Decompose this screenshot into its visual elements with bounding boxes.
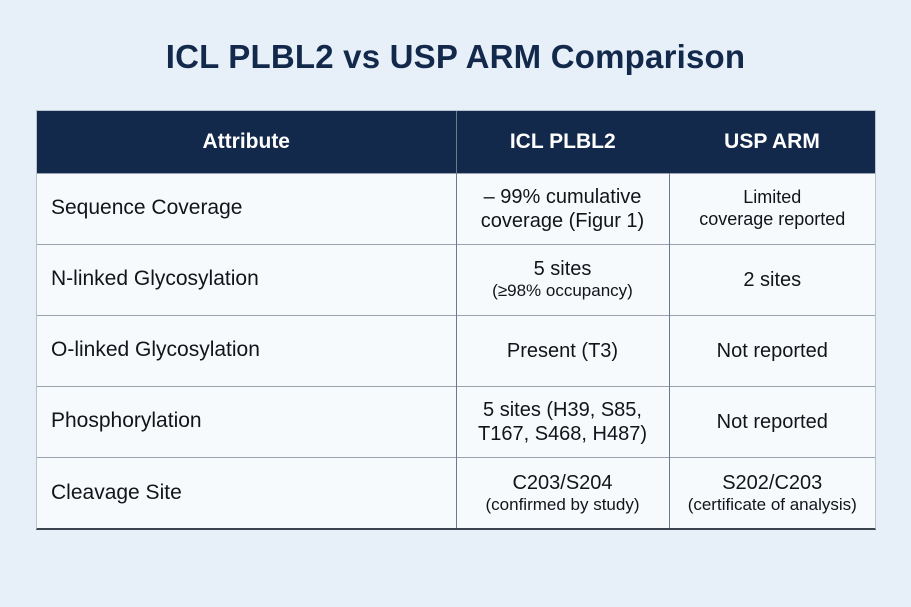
table-row: Phosphorylation 5 sites (H39, S85, T167,… [37,386,875,457]
slide-root: ICL PLBL2 vs USP ARM Comparison Attribut… [0,0,911,607]
page-title: ICL PLBL2 vs USP ARM Comparison [0,38,911,76]
cell-icl-plbl2: 5 sites (H39, S85, T167, S468, H487) [456,386,669,457]
cell-line-primary: Not reported [676,339,870,363]
cell-usp-arm: 2 sites [669,244,875,315]
cell-line-primary: 2 sites [676,268,870,292]
table-row: N-linked Glycosylation 5 sites (≥98% occ… [37,244,875,315]
table-row: Cleavage Site C203/S204 (confirmed by st… [37,457,875,528]
cell-attribute: Sequence Coverage [37,173,456,244]
table-header: Attribute ICL PLBL2 USP ARM [37,111,875,173]
cell-attribute: Cleavage Site [37,457,456,528]
comparison-table: Attribute ICL PLBL2 USP ARM Sequence Cov… [37,111,875,528]
cell-line-primary: – 99% cumulative [463,185,663,209]
cell-line-primary: Present (T3) [463,339,663,363]
cell-attribute: N-linked Glycosylation [37,244,456,315]
comparison-table-container: Attribute ICL PLBL2 USP ARM Sequence Cov… [36,110,876,530]
cell-line-primary: Not reported [676,410,870,434]
cell-line-secondary: T167, S468, H487) [463,422,663,446]
cell-icl-plbl2: – 99% cumulative coverage (Figur 1) [456,173,669,244]
cell-attribute: Phosphorylation [37,386,456,457]
header-row: Attribute ICL PLBL2 USP ARM [37,111,875,173]
cell-usp-arm: Not reported [669,315,875,386]
cell-line-primary: C203/S204 [463,471,663,495]
cell-usp-arm: Not reported [669,386,875,457]
cell-usp-arm: Limited coverage reported [669,173,875,244]
column-header-icl-plbl2: ICL PLBL2 [456,111,669,173]
cell-attribute: O-linked Glycosylation [37,315,456,386]
cell-line-secondary: coverage (Figur 1) [463,209,663,233]
cell-icl-plbl2: C203/S204 (confirmed by study) [456,457,669,528]
cell-usp-arm: S202/C203 (certificate of analysis) [669,457,875,528]
cell-line-secondary: (confirmed by study) [463,495,663,515]
table-body: Sequence Coverage – 99% cumulative cover… [37,173,875,528]
table-row: O-linked Glycosylation Present (T3) Not … [37,315,875,386]
cell-icl-plbl2: 5 sites (≥98% occupancy) [456,244,669,315]
cell-line-primary: Limited [676,187,870,209]
cell-line-primary: S202/C203 [676,471,870,495]
table-row: Sequence Coverage – 99% cumulative cover… [37,173,875,244]
cell-icl-plbl2: Present (T3) [456,315,669,386]
column-header-usp-arm: USP ARM [669,111,875,173]
cell-line-secondary: (≥98% occupancy) [463,281,663,301]
cell-line-secondary: coverage reported [676,209,870,231]
cell-line-primary: 5 sites [463,257,663,281]
column-header-attribute: Attribute [37,111,456,173]
cell-line-secondary: (certificate of analysis) [676,495,870,515]
cell-line-primary: 5 sites (H39, S85, [463,398,663,422]
